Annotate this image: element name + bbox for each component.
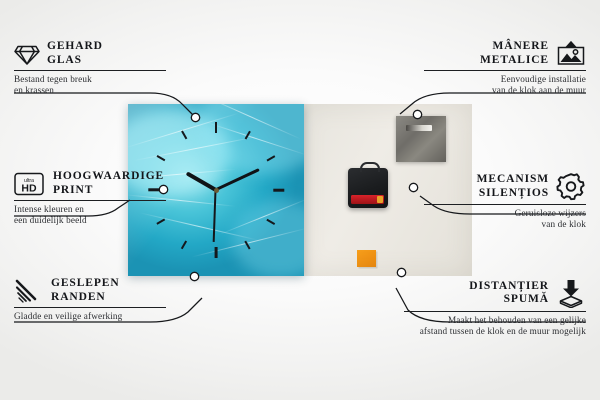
feature-title: GESLEPEN RANDEN — [51, 277, 120, 304]
feature-header: MECANISM SILENȚIOS — [416, 172, 586, 201]
feature-header: GEHARD GLAS — [14, 40, 174, 67]
feature-subtitle: Eenvoudige installatie van de klok aan d… — [416, 74, 586, 97]
feature-rule — [424, 70, 586, 71]
feature-header: GESLEPEN RANDEN — [14, 277, 184, 304]
feature-header: ultra HD HOOGWAARDIGE PRINT — [14, 170, 180, 197]
feature-subtitle: Gladde en veilige afwerking — [14, 311, 184, 322]
feature-geslepen-randen[interactable]: GESLEPEN RANDEN Gladde en veilige afwerk… — [14, 277, 184, 322]
feature-manere-metalice[interactable]: MÂNERE METALICE Eenvoudige installatie v… — [416, 40, 586, 97]
callout-endpoint-randen — [190, 272, 198, 280]
feature-title: MECANISM SILENȚIOS — [477, 173, 549, 200]
feature-rule — [404, 311, 586, 312]
picture-frame-icon — [556, 41, 586, 67]
gear-icon — [556, 172, 586, 201]
feature-gehard-glas[interactable]: GEHARD GLAS Bestand tegen breuk en krass… — [14, 40, 174, 97]
feature-title: HOOGWAARDIGE PRINT — [53, 170, 164, 197]
down-arrow-stack-icon — [556, 278, 586, 308]
feature-title: DISTANȚIER SPUMĂ — [469, 280, 549, 307]
callout-endpoint-gehard-glas — [191, 113, 199, 121]
diamond-icon — [14, 42, 40, 66]
callout-endpoint-distantier — [397, 268, 405, 276]
feature-title: MÂNERE METALICE — [480, 40, 549, 67]
feature-subtitle: Intense kleuren en een duidelijk beeld — [14, 204, 180, 227]
feature-title: GEHARD GLAS — [47, 40, 103, 67]
feature-hoogwaardige-print[interactable]: ultra HD HOOGWAARDIGE PRINT Intense kleu… — [14, 170, 180, 227]
feature-rule — [14, 70, 166, 71]
feature-mecanism-silentios[interactable]: MECANISM SILENȚIOS Geruisloze wijzers va… — [416, 172, 586, 231]
feature-rule — [14, 200, 166, 201]
infographic-canvas: GEHARD GLAS Bestand tegen breuk en krass… — [0, 0, 600, 400]
feature-rule — [14, 307, 166, 308]
callout-endpoint-manere — [413, 110, 421, 118]
feature-rule — [424, 204, 586, 205]
svg-text:HD: HD — [21, 182, 37, 194]
bevelled-edges-icon — [14, 279, 44, 303]
feature-subtitle: Geruisloze wijzers van de klok — [416, 208, 586, 231]
feature-subtitle: Bestand tegen breuk en krassen — [14, 74, 174, 97]
feature-distantier-spuma[interactable]: DISTANȚIER SPUMĂ Maakt het behouden van … — [396, 278, 586, 338]
feature-header: MÂNERE METALICE — [416, 40, 586, 67]
feature-subtitle: Maakt het behouden van een gelijke afsta… — [396, 315, 586, 338]
ultra-hd-icon: ultra HD — [14, 171, 46, 197]
feature-header: DISTANȚIER SPUMĂ — [396, 278, 586, 308]
